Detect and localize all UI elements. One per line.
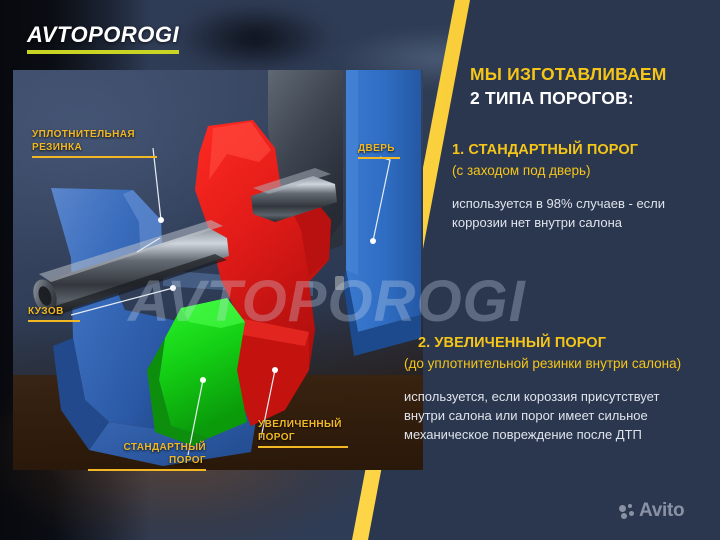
panel-item-1: 1. СТАНДАРТНЫЙ ПОРОГ (с заходом под двер… (452, 140, 714, 232)
callout-seal-line1: УПЛОТНИТЕЛЬНАЯ (32, 129, 135, 140)
callout-door-line1: ДВЕРЬ (358, 143, 395, 154)
panel-item-1-title: 1. СТАНДАРТНЫЙ ПОРОГ (452, 140, 714, 160)
callout-body: КУЗОВ (28, 305, 80, 322)
avito-watermark: Avito (619, 500, 684, 522)
callout-seal: УПЛОТНИТЕЛЬНАЯ РЕЗИНКА (32, 128, 157, 158)
door-shape (335, 70, 421, 356)
panel-item-2-body: используется, если короззия присутствует… (404, 387, 704, 444)
callout-seal-rule (32, 156, 157, 158)
callout-standard-line1: СТАНДАРТНЫЙ (124, 442, 207, 453)
callout-standard-rule (88, 469, 206, 471)
panel-item-2: 2. УВЕЛИЧЕННЫЙ ПОРОГ (до уплотнительной … (404, 333, 704, 444)
panel-item-1-subtitle: (с заходом под дверь) (452, 161, 714, 180)
callout-standard-line2: ПОРОГ (169, 455, 206, 466)
callout-body-line1: КУЗОВ (28, 306, 64, 317)
avito-dots-icon (619, 504, 635, 519)
callout-seal-line2: РЕЗИНКА (32, 142, 82, 153)
avito-wordmark: Avito (639, 500, 684, 522)
callout-door-rule (358, 157, 400, 159)
panel-heading-line2: 2 ТИПА ПОРОГОВ: (470, 86, 715, 110)
callout-door: ДВЕРЬ (358, 142, 400, 159)
panel-item-1-body: используется в 98% случаев - если корроз… (452, 194, 714, 232)
infographic-canvas: AVTOPOROGI AVTOPOROGI УПЛОТНИТЕЛЬНАЯ РЕЗ… (0, 0, 720, 540)
callout-enlarged-line1: УВЕЛИЧЕННЫЙ (258, 419, 342, 430)
callout-body-rule (28, 320, 80, 322)
callout-enlarged-sill: УВЕЛИЧЕННЫЙ ПОРОГ (258, 418, 348, 448)
callout-enlarged-rule (258, 446, 348, 448)
callout-enlarged-line2: ПОРОГ (258, 432, 295, 443)
brand-logo[interactable]: AVTOPOROGI (27, 22, 179, 54)
panel-heading: МЫ ИЗГОТАВЛИВАЕМ 2 ТИПА ПОРОГОВ: (470, 62, 715, 110)
panel-item-2-title: 2. УВЕЛИЧЕННЫЙ ПОРОГ (418, 333, 704, 353)
brand-logo-text: AVTOPOROGI (27, 22, 179, 48)
panel-item-2-subtitle: (до уплотнительной резинки внутри салона… (404, 354, 704, 373)
panel-heading-line1: МЫ ИЗГОТАВЛИВАЕМ (470, 62, 715, 86)
callout-standard-sill: СТАНДАРТНЫЙ ПОРОГ (88, 441, 206, 471)
brand-logo-underline (27, 50, 179, 54)
